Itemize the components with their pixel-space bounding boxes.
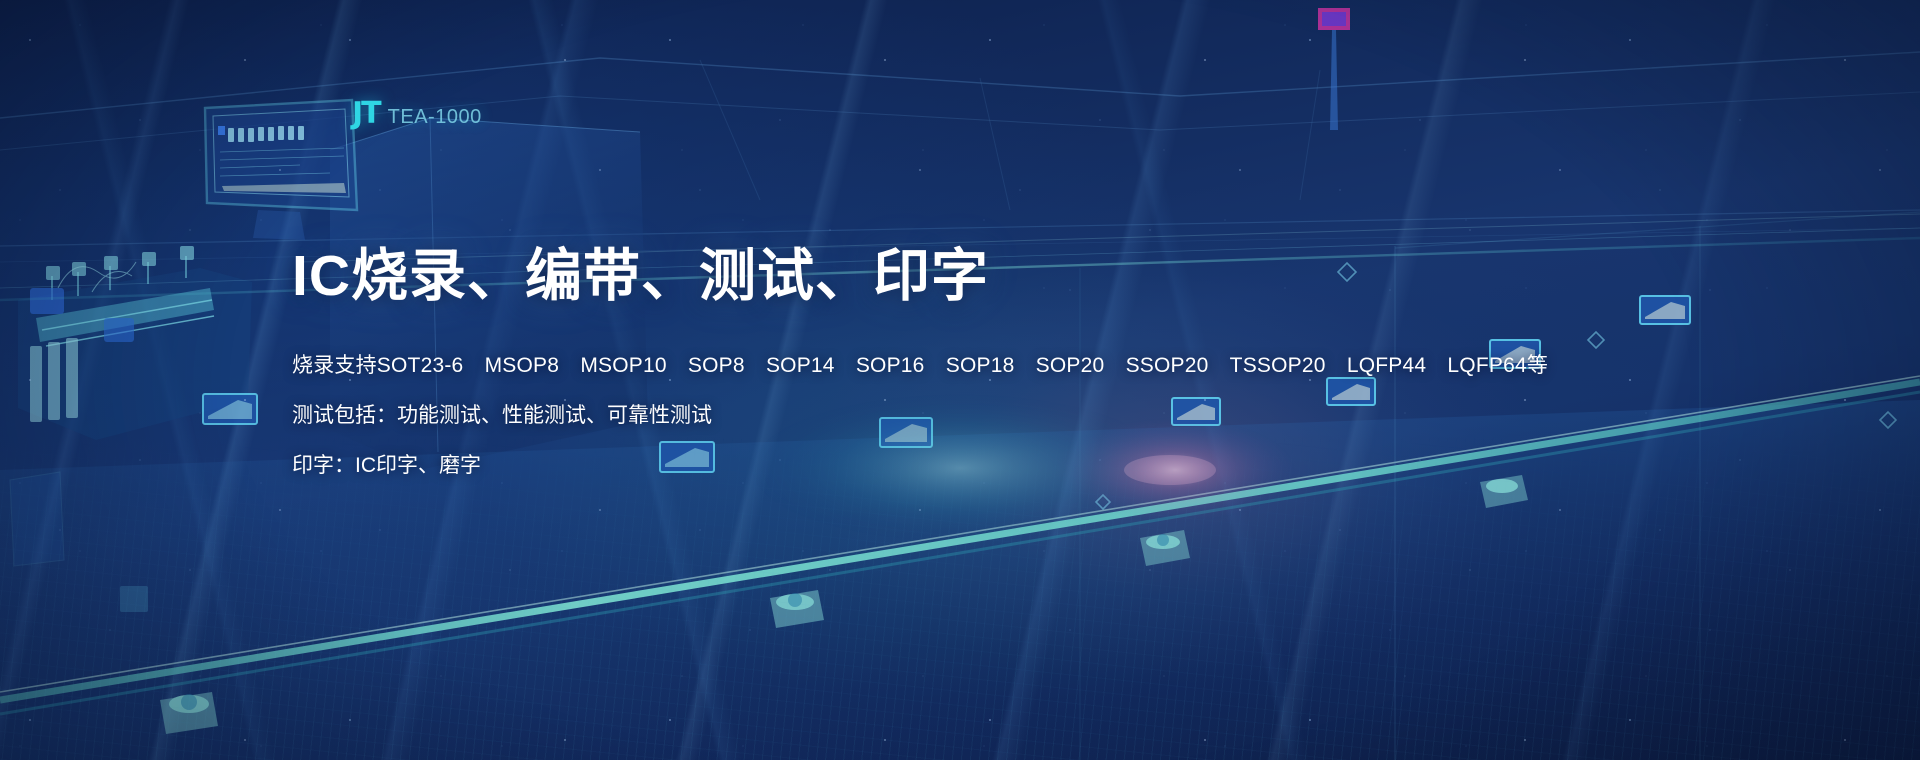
machine-model-text: TEA-1000	[388, 106, 482, 129]
machine-brand-text: JT	[352, 96, 380, 131]
circuit-texture-decoration	[0, 430, 1920, 760]
hero-banner: JT TEA-1000 IC烧录、编带、测试、印字 烧录支持SOT23-6 MS…	[0, 0, 1920, 760]
hero-copy-block: IC烧录、编带、测试、印字 烧录支持SOT23-6 MSOP8 MSOP10 S…	[292, 248, 1692, 476]
machine-model-label: JT TEA-1000	[352, 96, 482, 131]
subtitle-line-packages: 烧录支持SOT23-6 MSOP8 MSOP10 SOP8 SOP14 SOP1…	[292, 355, 1692, 376]
subtitle-line-testing: 测试包括：功能测试、性能测试、可靠性测试	[292, 405, 1692, 426]
page-title: IC烧录、编带、测试、印字	[292, 248, 1692, 305]
machine-illustration	[18, 246, 252, 440]
subtitle-line-marking: 印字：IC印字、磨字	[292, 455, 1692, 476]
